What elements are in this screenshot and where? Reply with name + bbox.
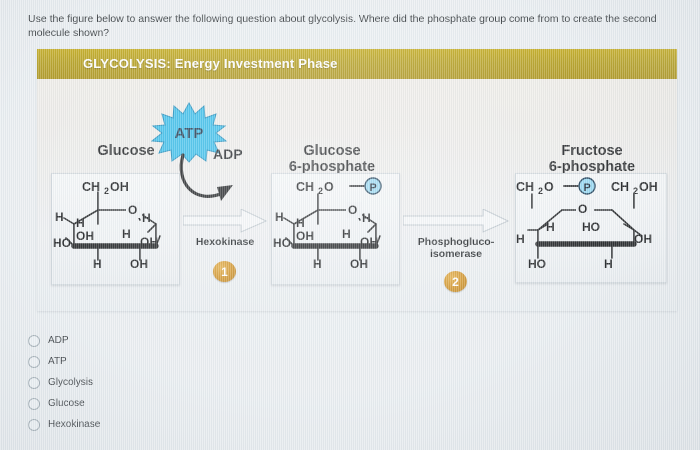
svg-text:P: P [369,182,376,194]
phosphate-circle: P [579,178,595,194]
svg-text:H: H [122,227,131,241]
svg-text:O: O [348,203,357,217]
atp-label: ATP [175,125,204,142]
molecule-label-glucose-6-phosphate: Glucose 6-phosphate [252,143,412,175]
molecule-label-f6p-line1: Fructose [512,143,672,159]
figure-title: GLYCOLYSIS: Energy Investment Phase [83,56,338,71]
answer-option-hexokinase[interactable]: Hexokinase [28,414,268,435]
enzyme-label-phosphoglucoisomerase: Phosphogluco- isomerase [397,237,515,260]
molecule-label-glucose-line1: Glucose [97,143,154,159]
svg-text:H: H [604,257,613,271]
svg-text:CH: CH [516,180,534,194]
answer-option-adp[interactable]: ADP [28,330,268,351]
svg-text:HO: HO [273,236,291,250]
svg-text:H: H [93,257,102,271]
svg-text:OH: OH [140,235,158,249]
radio-button-icon[interactable] [28,419,40,431]
svg-text:P: P [583,182,590,194]
svg-text:OH: OH [296,229,314,243]
svg-text:2: 2 [104,186,109,196]
reaction-arrow-1 [183,209,267,233]
svg-text:H: H [296,216,305,230]
svg-text:OH: OH [350,257,368,271]
svg-text:OH: OH [360,235,378,249]
enzyme-label-hexokinase: Hexokinase [183,237,267,249]
svg-text:HO: HO [528,257,546,271]
step-badge-2: 2 [444,271,467,292]
svg-text:CH: CH [611,180,629,194]
molecule-structure-glucose: CH 2 OH O H H H OH H HO OH H OH [51,173,180,285]
molecule-label-fructose-6-phosphate: Fructose 6-phosphate [512,143,672,175]
phosphate-circle: P [365,178,381,194]
svg-text:O: O [578,202,587,216]
svg-text:H: H [55,210,64,224]
molecule-structure-glucose-6-phosphate: CH 2 O O H H H OH H HO OH H OH P [271,173,400,285]
svg-text:CH: CH [296,180,314,194]
answer-option-label: Hexokinase [48,419,100,430]
svg-text:H: H [546,220,555,234]
svg-text:HO: HO [53,236,71,250]
answer-option-label: ADP [48,335,69,346]
svg-text:2: 2 [633,186,638,196]
svg-text:H: H [362,211,371,225]
svg-text:H: H [275,210,284,224]
answer-option-label: Glucose [48,398,85,409]
answer-option-glucose[interactable]: Glucose [28,393,268,414]
answer-option-label: ATP [48,356,67,367]
radio-button-icon[interactable] [28,356,40,368]
svg-text:H: H [313,257,322,271]
radio-button-icon[interactable] [28,335,40,347]
answer-option-label: Glycolysis [48,377,93,388]
svg-text:OH: OH [639,180,658,194]
svg-text:O: O [128,203,137,217]
answer-options-list: ADP ATP Glycolysis Glucose Hexokinase [28,330,268,435]
glycolysis-figure-panel: GLYCOLYSIS: Energy Investment Phase Gluc… [37,49,677,311]
adp-label: ADP [213,146,243,162]
svg-text:OH: OH [634,232,652,246]
svg-text:2: 2 [538,186,543,196]
answer-option-glycolysis[interactable]: Glycolysis [28,372,268,393]
molecule-label-g6p-line1: Glucose [252,143,412,159]
enzyme-hexokinase-line1: Hexokinase [183,237,267,249]
svg-text:CH: CH [82,180,100,194]
svg-text:2: 2 [318,186,323,196]
radio-button-icon[interactable] [28,377,40,389]
molecule-structure-fructose-6-phosphate: CH 2 O CH 2 OH O H HO H OH HO H P [515,173,667,283]
svg-text:H: H [516,232,525,246]
svg-text:HO: HO [582,220,600,234]
enzyme-pgi-line1: Phosphogluco- [397,237,515,249]
svg-text:OH: OH [130,257,148,271]
svg-text:O: O [544,180,554,194]
enzyme-pgi-line2: isomerase [397,249,515,261]
svg-text:H: H [76,216,85,230]
svg-text:H: H [142,211,151,225]
svg-text:OH: OH [110,180,129,194]
question-text: Use the figure below to answer the follo… [28,12,673,40]
step-badge-1: 1 [213,261,236,282]
svg-text:O: O [324,180,334,194]
svg-text:H: H [342,227,351,241]
svg-text:OH: OH [76,229,94,243]
reaction-arrow-2 [403,209,509,233]
answer-option-atp[interactable]: ATP [28,351,268,372]
radio-button-icon[interactable] [28,398,40,410]
